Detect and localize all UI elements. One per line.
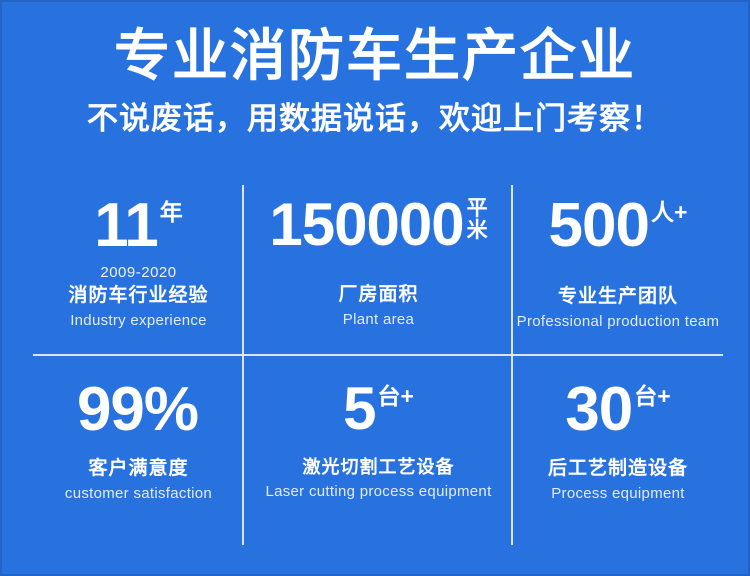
- stat-value-group: 5 台+: [343, 379, 414, 439]
- stat-unit: 平 米: [467, 195, 488, 242]
- stat-value-group: 150000 平 米: [269, 195, 487, 255]
- stat-card-industry-experience: 11 年 2009-2020 消防车行业经验 Industry experien…: [33, 185, 244, 354]
- stat-value-group: 99%: [77, 379, 200, 441]
- stat-value: 30: [565, 379, 632, 441]
- stat-unit: 台+: [377, 379, 413, 409]
- stat-value-group: 11 年: [94, 195, 183, 257]
- stat-card-plant-area: 150000 平 米 厂房面积 Plant area: [244, 185, 513, 354]
- stat-card-laser-cutting-equipment: 5 台+ 激光切割工艺设备 Laser cutting process equi…: [244, 354, 513, 545]
- stat-label-en: Professional production team: [517, 312, 720, 331]
- stat-value-group: 30 台+: [565, 379, 670, 441]
- stat-value: 150000: [269, 195, 463, 255]
- stat-value: 5: [343, 379, 375, 439]
- stat-label-en: Laser cutting process equipment: [265, 482, 491, 501]
- stats-row-top: 11 年 2009-2020 消防车行业经验 Industry experien…: [33, 185, 723, 354]
- stat-label-cn: 专业生产团队: [558, 285, 678, 309]
- promo-banner: 专业消防车生产企业 不说废话，用数据说话，欢迎上门考察！ 11 年 2009-2…: [0, 0, 750, 576]
- stat-unit-line-1: 平: [467, 198, 488, 220]
- stat-label-cn: 厂房面积: [338, 283, 418, 307]
- stat-unit-line-2: 米: [467, 220, 488, 242]
- stat-value: 500: [549, 195, 649, 257]
- stat-label-cn: 消防车行业经验: [68, 284, 208, 308]
- stat-card-customer-satisfaction: 99% 客户满意度 customer satisfaction: [33, 354, 244, 545]
- stat-unit: 年: [160, 195, 183, 225]
- stat-note: 2009-2020: [100, 263, 176, 282]
- stat-value-group: 500 人+: [549, 195, 688, 257]
- page-subtitle: 不说废话，用数据说话，欢迎上门考察！: [0, 88, 750, 138]
- stat-unit: 人+: [651, 195, 687, 225]
- stat-label-cn: 激光切割工艺设备: [303, 455, 455, 479]
- stat-label-cn: 后工艺制造设备: [548, 457, 688, 481]
- stat-label-cn: 客户满意度: [88, 457, 188, 481]
- stats-row-bottom: 99% 客户满意度 customer satisfaction 5 台+ 激光切…: [33, 354, 723, 545]
- stat-label-en: Industry experience: [70, 311, 207, 330]
- stat-value: 11: [94, 195, 158, 257]
- stat-unit: 台+: [634, 379, 670, 409]
- stats-grid: 11 年 2009-2020 消防车行业经验 Industry experien…: [33, 185, 723, 545]
- stat-card-process-equipment: 30 台+ 后工艺制造设备 Process equipment: [513, 354, 723, 545]
- stat-card-production-team: 500 人+ 专业生产团队 Professional production te…: [513, 185, 723, 354]
- stat-label-en: Plant area: [343, 310, 414, 329]
- stat-value: 99%: [77, 379, 198, 441]
- stat-label-en: Process equipment: [551, 484, 685, 503]
- page-title: 专业消防车生产企业: [0, 0, 750, 88]
- stat-label-en: customer satisfaction: [65, 484, 212, 503]
- banner-header: 专业消防车生产企业 不说废话，用数据说话，欢迎上门考察！: [0, 0, 750, 138]
